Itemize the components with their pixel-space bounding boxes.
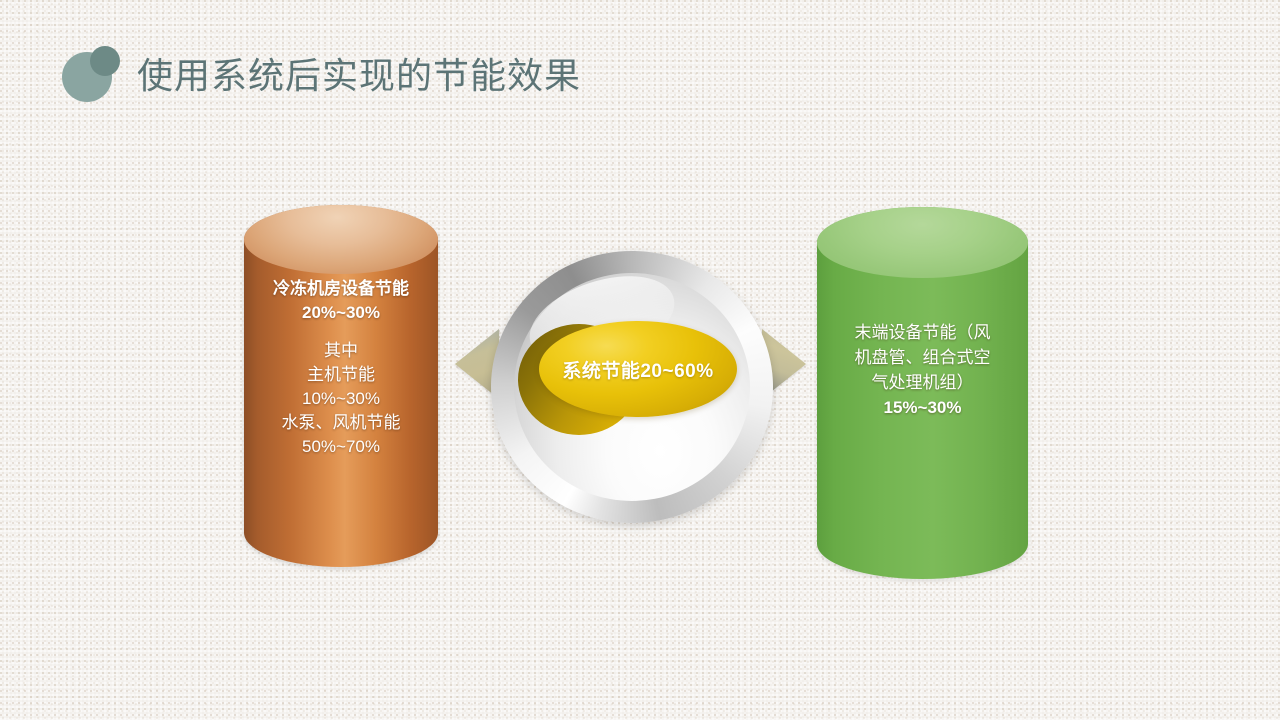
- left-line-6: 水泵、风机节能: [244, 411, 438, 435]
- right-cylinder-text: 末端设备节能（风 机盘管、组合式空 气处理机组） 15%~30%: [817, 320, 1028, 420]
- presentation-slide: 使用系统后实现的节能效果 冷冻机房设备节能 20%~30% 其中 主机节能 10…: [0, 0, 1280, 720]
- left-line-4: 主机节能: [244, 363, 438, 387]
- left-cylinder-top-ellipse: [244, 205, 438, 274]
- center-system-badge: 系统节能20~60%: [491, 251, 773, 523]
- right-line-3: 气处理机组）: [817, 370, 1028, 395]
- logo-small-circle: [90, 46, 120, 76]
- left-line-7: 50%~70%: [244, 435, 438, 459]
- right-line-1: 末端设备节能（风: [817, 320, 1028, 345]
- left-cylinder-text: 冷冻机房设备节能 20%~30% 其中 主机节能 10%~30% 水泵、风机节能…: [244, 277, 438, 459]
- left-line-5: 10%~30%: [244, 387, 438, 411]
- center-label-text: 系统节能20~60%: [539, 321, 737, 417]
- slide-header: 使用系统后实现的节能效果: [0, 0, 1280, 130]
- left-line-3: 其中: [244, 339, 438, 363]
- left-cylinder-chiller-plant: 冷冻机房设备节能 20%~30% 其中 主机节能 10%~30% 水泵、风机节能…: [244, 205, 438, 567]
- left-text-spacer: [244, 325, 438, 339]
- left-line-2: 20%~30%: [244, 301, 438, 325]
- logo-circles-icon: [62, 46, 124, 104]
- right-line-4: 15%~30%: [817, 395, 1028, 420]
- right-cylinder-terminal-equipment: 末端设备节能（风 机盘管、组合式空 气处理机组） 15%~30%: [817, 207, 1028, 579]
- right-cylinder-top-ellipse: [817, 207, 1028, 278]
- right-line-2: 机盘管、组合式空: [817, 345, 1028, 370]
- page-title: 使用系统后实现的节能效果: [137, 54, 581, 98]
- left-line-1: 冷冻机房设备节能: [244, 277, 438, 301]
